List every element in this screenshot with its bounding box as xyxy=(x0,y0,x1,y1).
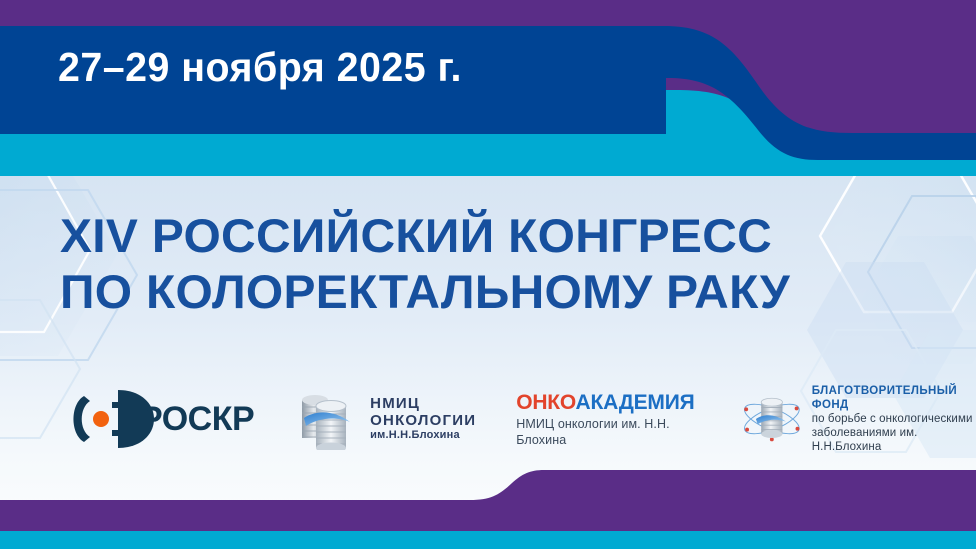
fond-line-2: по борьбе с онкологическими xyxy=(812,412,976,426)
onkoakademia-word-part1: ОНКО xyxy=(516,391,575,414)
onkoakademia-word-part2: АКАДЕМИЯ xyxy=(576,391,695,414)
fond-line-3: заболеваниями им. Н.Н.Блохина xyxy=(812,426,976,454)
nmic-line-1: НМИЦ xyxy=(370,396,476,412)
nmic-text: НМИЦ ОНКОЛОГИИ им.Н.Н.Блохина xyxy=(370,396,476,442)
title-line-2: ПО КОЛОРЕКТАЛЬНОМУ РАКУ xyxy=(60,264,937,320)
bottom-purple-band xyxy=(0,470,976,531)
sponsor-logos-row: РОСКР xyxy=(0,378,976,460)
logo-roskr[interactable]: РОСКР xyxy=(62,383,254,455)
title-line-1: XIV РОССИЙСКИЙ КОНГРЕСС xyxy=(60,208,937,264)
roskr-text: РОСКР xyxy=(154,400,254,439)
nmic-cylinder-icon xyxy=(300,388,362,450)
logo-onkoakademia[interactable]: ОНКОАКАДЕМИЯ НМИЦ онкологии им. Н.Н. Бло… xyxy=(516,383,700,455)
onkoakademia-text: ОНКОАКАДЕМИЯ НМИЦ онкологии им. Н.Н. Бло… xyxy=(516,391,700,448)
nmic-line-3: им.Н.Н.Блохина xyxy=(370,429,476,442)
bottom-cyan-strip xyxy=(0,531,976,549)
page-title: XIV РОССИЙСКИЙ КОНГРЕСС ПО КОЛОРЕКТАЛЬНО… xyxy=(60,208,920,320)
congress-banner: 27–29 ноября 2025 г. XIV РОССИЙСКИЙ КОНГ… xyxy=(0,0,976,549)
nmic-line-2: ОНКОЛОГИИ xyxy=(370,412,476,429)
logo-nmic-oncology[interactable]: НМИЦ ОНКОЛОГИИ им.Н.Н.Блохина xyxy=(300,383,476,455)
logo-charity-fund[interactable]: БЛАГОТВОРИТЕЛЬНЫЙ ФОНД по борьбе с онкол… xyxy=(740,383,976,455)
onkoakademia-subtitle: НМИЦ онкологии им. Н.Н. Блохина xyxy=(516,416,700,448)
fond-text: БЛАГОТВОРИТЕЛЬНЫЙ ФОНД по борьбе с онкол… xyxy=(812,384,976,454)
roskr-wordmark: РОСКР xyxy=(140,400,254,439)
fond-line-1: БЛАГОТВОРИТЕЛЬНЫЙ ФОНД xyxy=(812,384,976,412)
fond-atom-cylinder-icon xyxy=(740,389,804,449)
onkoakademia-wordmark: ОНКОАКАДЕМИЯ xyxy=(516,391,700,414)
event-date: 27–29 ноября 2025 г. xyxy=(58,44,462,91)
